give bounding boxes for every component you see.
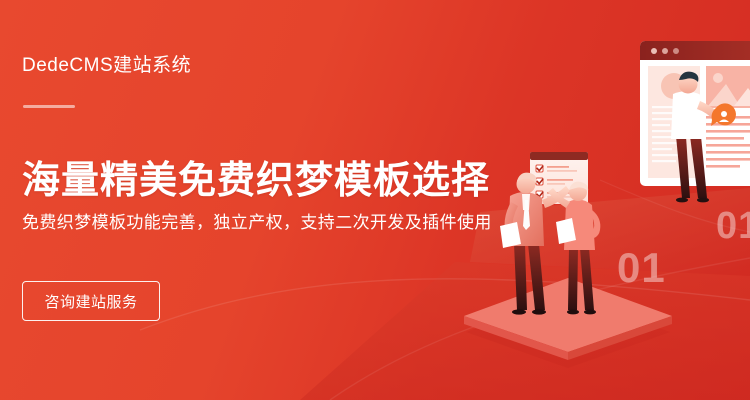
consult-service-button[interactable]: 咨询建站服务 xyxy=(22,281,160,321)
banner-text-column: DedeCMS建站系统 海量精美免费织梦模板选择 免费织梦模板功能完善，独立产权… xyxy=(22,0,442,400)
subtitle-text: 免费织梦模板功能完善，独立产权，支持二次开发及插件使用 xyxy=(22,210,492,236)
title-divider xyxy=(23,105,75,108)
promo-banner: 01 01 DedeCMS建站系统 海量精美免费织梦模板选择 免费织梦模板功能完… xyxy=(0,0,750,400)
page-title: 海量精美免费织梦模板选择 xyxy=(22,158,490,204)
brand-title: DedeCMS建站系统 xyxy=(22,54,191,78)
